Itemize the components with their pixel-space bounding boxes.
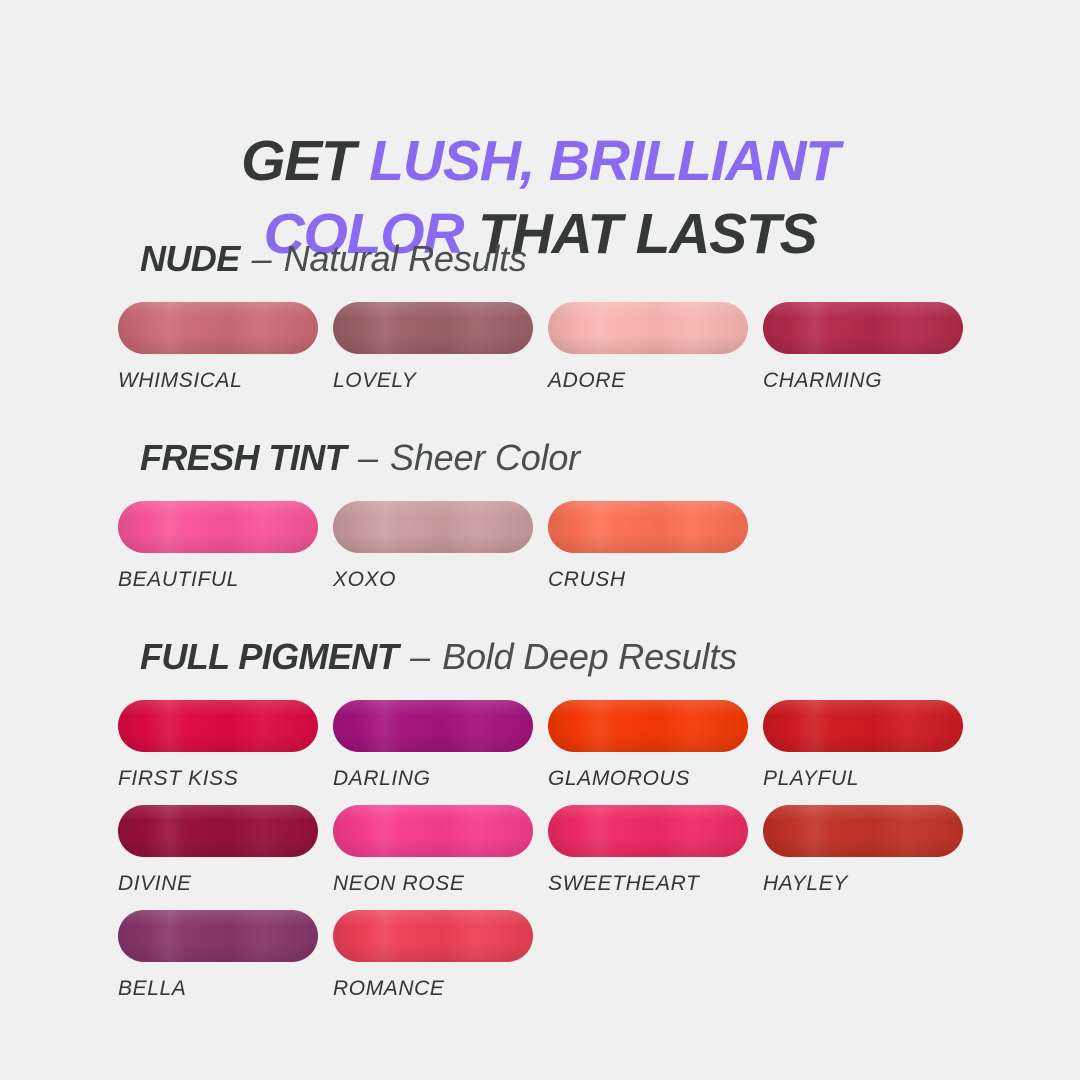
color-swatch-glamorous[interactable] (548, 700, 748, 752)
swatch-label: WHIMSICAL (118, 369, 333, 393)
swatch-label: NEON ROSE (333, 872, 548, 896)
swatch-row: FIRST KISSDARLINGGLAMOROUSPLAYFUL (0, 700, 1080, 791)
section-description: Bold Deep Results (442, 636, 737, 677)
swatch-label: PLAYFUL (763, 767, 978, 791)
color-swatch-divine[interactable] (118, 805, 318, 857)
swatch-label: DIVINE (118, 872, 333, 896)
headline-segment-get: GET (241, 129, 369, 193)
swatch-label: ROMANCE (333, 977, 548, 1001)
section-dash: – (398, 636, 442, 677)
section-description: Natural Results (284, 238, 527, 279)
swatch-cell[interactable]: ROMANCE (333, 910, 548, 1001)
swatch-row: BELLAROMANCE (0, 910, 1080, 1001)
section-category-label: FRESH TINT (140, 437, 346, 478)
swatch-label: FIRST KISS (118, 767, 333, 791)
color-swatch-darling[interactable] (333, 700, 533, 752)
swatch-cell[interactable]: DIVINE (118, 805, 333, 896)
swatch-cell[interactable]: WHIMSICAL (118, 302, 333, 393)
section-header-nude: NUDE – Natural Results (0, 238, 1080, 280)
swatch-label: BELLA (118, 977, 333, 1001)
swatch-cell[interactable]: ADORE (548, 302, 763, 393)
section-header-full-pigment: FULL PIGMENT – Bold Deep Results (0, 636, 1080, 678)
swatch-label: ADORE (548, 369, 763, 393)
color-swatch-romance[interactable] (333, 910, 533, 962)
headline-segment-lush-brilliant: LUSH, BRILLIANT (369, 129, 839, 193)
color-swatch-xoxo[interactable] (333, 501, 533, 553)
color-swatch-sweetheart[interactable] (548, 805, 748, 857)
section-category-label: NUDE (140, 238, 240, 279)
swatch-label: DARLING (333, 767, 548, 791)
swatch-label: XOXO (333, 568, 548, 592)
shade-chart-canvas: GET LUSH, BRILLIANTCOLOR THAT LASTS NUDE… (0, 0, 1080, 1080)
swatch-label: BEAUTIFUL (118, 568, 333, 592)
color-swatch-adore[interactable] (548, 302, 748, 354)
swatch-row: DIVINENEON ROSESWEETHEARTHAYLEY (0, 805, 1080, 896)
swatch-label: SWEETHEART (548, 872, 763, 896)
swatch-label: CRUSH (548, 568, 763, 592)
color-swatch-first-kiss[interactable] (118, 700, 318, 752)
color-swatch-crush[interactable] (548, 501, 748, 553)
swatch-label: GLAMOROUS (548, 767, 763, 791)
shade-section-nude: NUDE – Natural ResultsWHIMSICALLOVELYADO… (0, 238, 1080, 393)
swatch-cell[interactable]: DARLING (333, 700, 548, 791)
section-description: Sheer Color (390, 437, 580, 478)
color-swatch-neon-rose[interactable] (333, 805, 533, 857)
color-swatch-beautiful[interactable] (118, 501, 318, 553)
swatch-row: WHIMSICALLOVELYADORECHARMING (0, 302, 1080, 393)
shade-section-fresh-tint: FRESH TINT – Sheer ColorBEAUTIFULXOXOCRU… (0, 437, 1080, 592)
swatch-cell[interactable]: CHARMING (763, 302, 978, 393)
section-header-fresh-tint: FRESH TINT – Sheer Color (0, 437, 1080, 479)
swatch-cell[interactable]: PLAYFUL (763, 700, 978, 791)
color-swatch-lovely[interactable] (333, 302, 533, 354)
swatch-cell[interactable]: BELLA (118, 910, 333, 1001)
swatch-cell[interactable]: XOXO (333, 501, 548, 592)
swatch-cell[interactable]: HAYLEY (763, 805, 978, 896)
color-swatch-whimsical[interactable] (118, 302, 318, 354)
swatch-cell[interactable]: FIRST KISS (118, 700, 333, 791)
swatch-label: HAYLEY (763, 872, 978, 896)
swatch-label: LOVELY (333, 369, 548, 393)
color-swatch-hayley[interactable] (763, 805, 963, 857)
swatch-cell[interactable]: NEON ROSE (333, 805, 548, 896)
swatch-cell[interactable]: SWEETHEART (548, 805, 763, 896)
color-swatch-bella[interactable] (118, 910, 318, 962)
swatch-cell[interactable]: LOVELY (333, 302, 548, 393)
swatch-cell[interactable]: GLAMOROUS (548, 700, 763, 791)
section-dash: – (346, 437, 390, 478)
swatch-label: CHARMING (763, 369, 978, 393)
color-swatch-playful[interactable] (763, 700, 963, 752)
section-category-label: FULL PIGMENT (140, 636, 398, 677)
color-swatch-charming[interactable] (763, 302, 963, 354)
shade-sections: NUDE – Natural ResultsWHIMSICALLOVELYADO… (0, 238, 1080, 1045)
section-dash: – (240, 238, 284, 279)
swatch-cell[interactable]: BEAUTIFUL (118, 501, 333, 592)
swatch-cell[interactable]: CRUSH (548, 501, 763, 592)
swatch-row: BEAUTIFULXOXOCRUSH (0, 501, 1080, 592)
shade-section-full-pigment: FULL PIGMENT – Bold Deep ResultsFIRST KI… (0, 636, 1080, 1001)
